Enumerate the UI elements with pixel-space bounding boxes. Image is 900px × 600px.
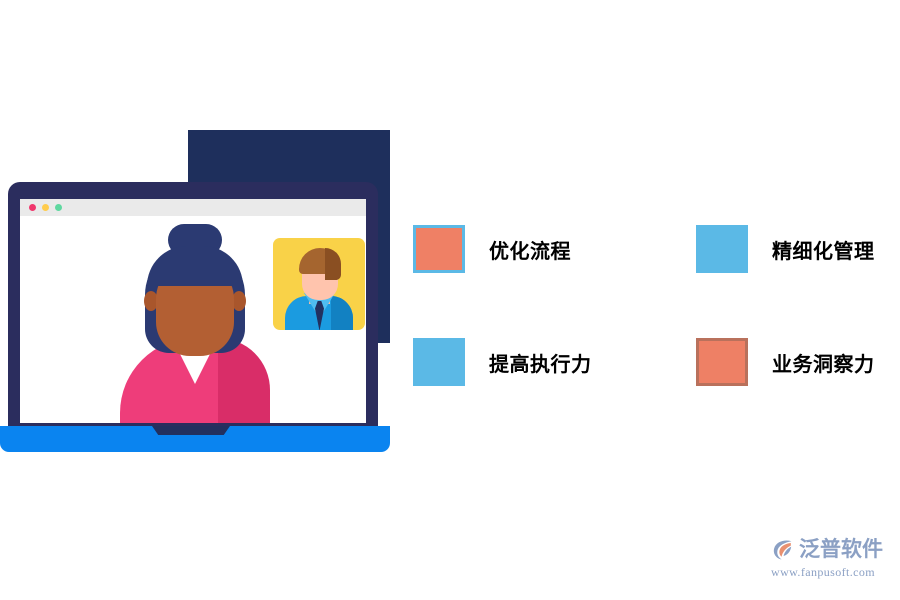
laptop-screen xyxy=(20,199,366,423)
legend-label-4: 业务洞察力 xyxy=(772,348,875,377)
legend-item-1[interactable]: 优化流程 xyxy=(413,225,571,273)
laptop-lid xyxy=(8,182,378,430)
legend-item-3[interactable]: 提高执行力 xyxy=(413,338,592,386)
legend-label-2: 精细化管理 xyxy=(772,235,875,264)
feature-legend: 优化流程 精细化管理 提高执行力 业务洞察力 xyxy=(413,225,893,405)
minimize-dot[interactable] xyxy=(42,204,49,211)
legend-item-2[interactable]: 精细化管理 xyxy=(696,225,875,273)
fanpu-logo-icon xyxy=(770,537,796,563)
legend-swatch-1 xyxy=(413,225,465,273)
maximize-dot[interactable] xyxy=(55,204,62,211)
video-call-stage xyxy=(20,216,366,423)
woman-ear-right xyxy=(232,291,246,311)
laptop-base-notch xyxy=(152,426,230,435)
legend-label-1: 优化流程 xyxy=(489,235,571,264)
video-conference-laptop-illustration xyxy=(0,120,400,450)
page-canvas: 优化流程 精细化管理 提高执行力 业务洞察力 泛普软件 xyxy=(0,0,900,600)
man-shirt-shade xyxy=(331,296,353,330)
browser-title-bar xyxy=(20,199,366,216)
brand-watermark: 泛普软件 www.fanpusoft.com xyxy=(770,536,895,582)
legend-swatch-4 xyxy=(696,338,748,386)
brand-name: 泛普软件 xyxy=(799,537,883,563)
legend-item-4[interactable]: 业务洞察力 xyxy=(696,338,875,386)
legend-swatch-2 xyxy=(696,225,748,273)
woman-hair-front xyxy=(147,246,243,286)
brand-url: www.fanpusoft.com xyxy=(771,565,895,580)
legend-swatch-3 xyxy=(413,338,465,386)
man-hair-shade xyxy=(325,248,341,280)
close-dot[interactable] xyxy=(29,204,36,211)
man-video-thumbnail[interactable] xyxy=(273,238,365,330)
legend-label-3: 提高执行力 xyxy=(489,348,592,377)
brand-watermark-row: 泛普软件 xyxy=(770,536,895,564)
